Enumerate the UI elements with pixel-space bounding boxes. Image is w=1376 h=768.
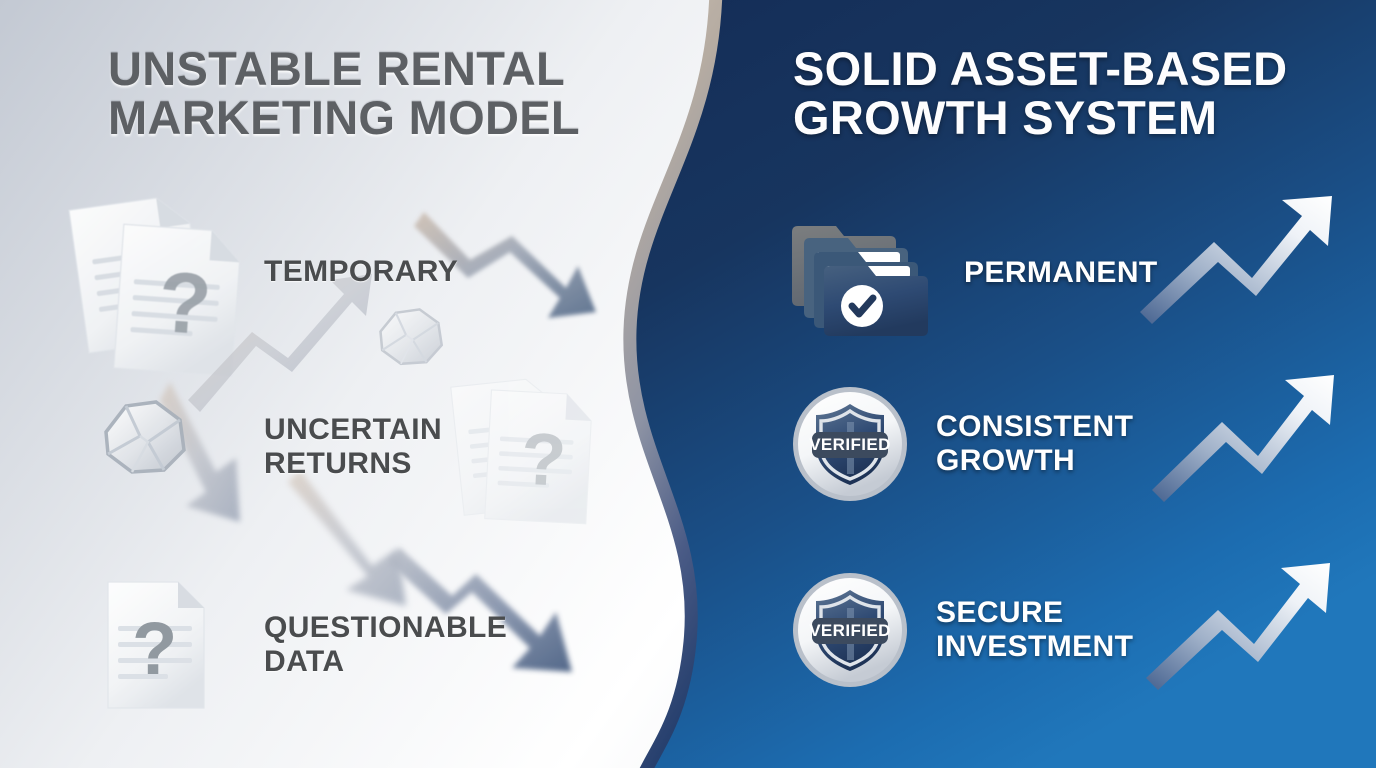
right-title-line-2: GROWTH SYSTEM [793,93,1313,142]
left-title-line-2: MARKETING MODEL [108,93,628,142]
crumpled-paper-icon [70,392,240,502]
right-item-label-line-2: INVESTMENT [936,630,1133,664]
left-item-label-line-2: RETURNS [264,447,442,481]
left-item-label-line-1: UNCERTAIN [264,413,442,447]
left-panel-title: UNSTABLE RENTAL MARKETING MODEL [108,44,628,143]
right-item-consistent-growth: VERIFIED CONSISTENT GROWTH [790,384,1370,504]
right-item-label-line-1: PERMANENT [964,256,1158,290]
left-title-line-1: UNSTABLE RENTAL [108,44,628,93]
verified-shield-icon: VERIFIED [790,570,910,690]
right-item-label: PERMANENT [964,256,1158,290]
question-documents-icon [70,212,240,332]
right-item-label: SECURE INVESTMENT [936,596,1133,663]
left-item-questionable-data: QUESTIONABLE DATA [70,590,630,700]
infographic-canvas: ? ? [0,0,1376,768]
left-item-label: UNCERTAIN RETURNS [264,413,442,480]
right-item-label-line-1: SECURE [936,596,1133,630]
verified-shield-icon: VERIFIED [790,384,910,504]
question-document-icon [70,590,240,700]
left-item-label: TEMPORARY [264,255,458,289]
right-item-secure-investment: VERIFIED SECURE INVESTMENT [790,570,1370,690]
left-item-label-line-1: QUESTIONABLE [264,611,507,645]
left-item-uncertain-returns: UNCERTAIN RETURNS [70,392,630,502]
verified-badge-text: VERIFIED [809,621,891,640]
right-item-permanent: PERMANENT [790,208,1370,338]
right-item-label-line-2: GROWTH [936,444,1133,478]
left-item-label-line-2: DATA [264,645,507,679]
folder-stack-check-icon [790,208,938,338]
right-title-line-1: SOLID ASSET-BASED [793,44,1313,93]
right-item-label: CONSISTENT GROWTH [936,410,1133,477]
left-item-label-line-1: TEMPORARY [264,255,458,289]
left-item-temporary: TEMPORARY [70,212,630,332]
right-item-label-line-1: CONSISTENT [936,410,1133,444]
verified-badge-text: VERIFIED [809,435,891,454]
left-item-label: QUESTIONABLE DATA [264,611,507,678]
right-panel-title: SOLID ASSET-BASED GROWTH SYSTEM [793,44,1313,143]
